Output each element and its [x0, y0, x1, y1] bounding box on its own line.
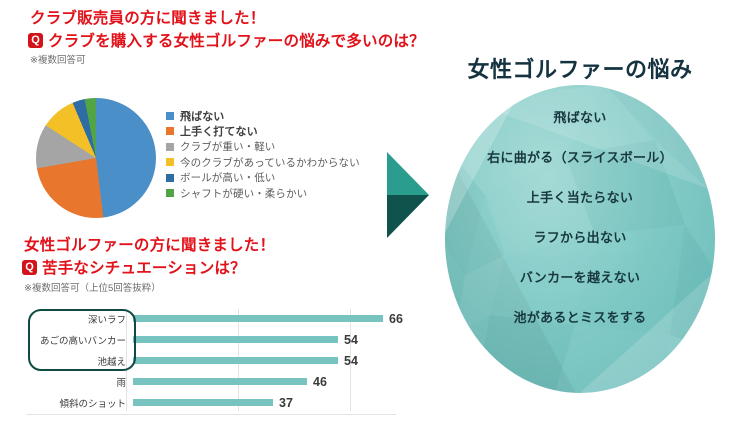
section1-question-row: Q クラブを購入する女性ゴルファーの悩みで多いのは？	[28, 29, 425, 51]
legend-swatch-icon	[166, 189, 174, 197]
bar-value: 37	[273, 396, 293, 410]
bar-value: 66	[383, 312, 403, 326]
right-arrow-icon	[383, 152, 429, 238]
left-column: クラブ販売員の方に聞きました！ Q クラブを購入する女性ゴルファーの悩みで多いの…	[0, 0, 430, 431]
pie-chart-legend: 飛ばない 上手く打てない クラブが重い・軽い 今のクラブがあっているかわからない…	[166, 108, 360, 201]
legend-swatch-icon	[166, 143, 174, 151]
bar-label: 傾斜のショット	[26, 396, 133, 410]
list-item: ラフから出ない	[533, 227, 626, 246]
bar-chart-row: 池越え 54	[26, 351, 426, 370]
bar-label: 雨	[26, 375, 133, 389]
legend-label: クラブが重い・軽い	[180, 139, 275, 154]
bar-chart-baseline	[26, 414, 396, 415]
section1-note: ※複数回答可	[30, 52, 85, 66]
list-item: 飛ばない	[553, 107, 606, 126]
infographic-canvas: クラブ販売員の方に聞きました！ Q クラブを購入する女性ゴルファーの悩みで多いの…	[0, 0, 730, 431]
bar-label: あごの高いバンカー	[26, 333, 133, 347]
bar-chart-row: 雨 46	[26, 372, 426, 391]
legend-item: クラブが重い・軽い	[166, 139, 360, 155]
legend-swatch-icon	[166, 158, 174, 166]
section2-note: ※複数回答可（上位5回答抜粋）	[24, 280, 161, 294]
bar-fill	[133, 336, 338, 343]
bar-label: 深いラフ	[26, 312, 133, 326]
question-badge-icon: Q	[28, 33, 43, 48]
bar-fill	[133, 399, 273, 406]
pie-chart-slices	[36, 98, 156, 218]
legend-item: ボールが高い・低い	[166, 170, 360, 186]
legend-item: 今のクラブがあっているかわからない	[166, 155, 360, 171]
bar-chart-row: 深いラフ 66	[26, 309, 426, 328]
bar-fill	[133, 357, 338, 364]
question-badge-icon: Q	[22, 260, 37, 275]
legend-label: 上手く打てない	[180, 123, 258, 139]
worry-list: 飛ばない 右に曲がる（スライスボール） 上手く当たらない ラフから出ない バンカ…	[445, 85, 715, 393]
bar-value: 54	[338, 333, 358, 347]
legend-item: シャフトが硬い・柔らかい	[166, 186, 360, 202]
section2-question-text: 苦手なシチュエーションは？	[42, 256, 246, 278]
bar-chart: 深いラフ 66 あごの高いバンカー 54 池越え 54 雨 46 傾斜のショット	[26, 307, 426, 419]
bar-value: 54	[338, 354, 358, 368]
right-panel-title: 女性ゴルファーの悩み	[430, 52, 730, 84]
section2-question-row: Q 苦手なシチュエーションは？	[22, 256, 246, 278]
list-item: 池があるとミスをする	[513, 307, 646, 326]
bar-value: 46	[307, 375, 327, 389]
list-item: 右に曲がる（スライスボール）	[487, 147, 673, 166]
section1-lead-text: クラブ販売員の方に聞きました！	[30, 6, 266, 28]
legend-item: 飛ばない	[166, 108, 360, 124]
legend-swatch-icon	[166, 174, 174, 182]
legend-swatch-icon	[166, 112, 174, 120]
legend-label: ボールが高い・低い	[180, 170, 275, 185]
bar-fill	[133, 378, 307, 385]
section1-question-text: クラブを購入する女性ゴルファーの悩みで多いのは？	[48, 29, 425, 51]
list-item: 上手く当たらない	[527, 187, 633, 206]
legend-swatch-icon	[166, 127, 174, 135]
right-column: 女性ゴルファーの悩み	[430, 0, 730, 431]
legend-label: 今のクラブがあっているかわからない	[180, 155, 360, 170]
bar-label: 池越え	[26, 354, 133, 368]
pie-chart	[36, 98, 156, 218]
bar-chart-row: あごの高いバンカー 54	[26, 330, 426, 349]
bar-chart-row: 傾斜のショット 37	[26, 393, 426, 412]
legend-label: 飛ばない	[180, 108, 224, 124]
bar-fill	[133, 315, 383, 322]
list-item: バンカーを越えない	[520, 267, 640, 286]
section2-lead-text: 女性ゴルファーの方に聞きました！	[24, 233, 275, 255]
legend-label: シャフトが硬い・柔らかい	[180, 186, 307, 201]
legend-item: 上手く打てない	[166, 124, 360, 140]
